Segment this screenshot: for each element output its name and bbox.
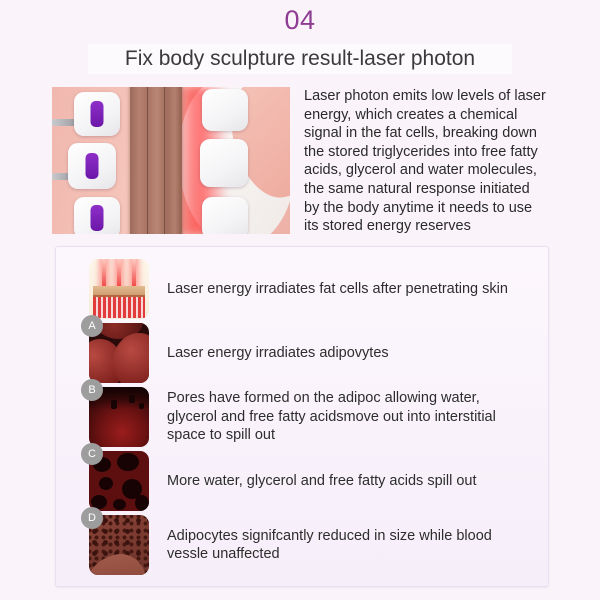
photo-pad-led	[91, 101, 104, 127]
fat-droplet	[99, 477, 113, 490]
fat-droplet	[113, 499, 126, 510]
page-title: Fix body sculpture result-laser photon	[0, 44, 600, 74]
step-item: C More water, glycerol and free fatty ac…	[89, 451, 529, 515]
step-label: Pores have formed on the adipoc allowing…	[167, 387, 527, 447]
photo-pad-led	[91, 205, 104, 231]
step-badge-a: A	[81, 315, 103, 337]
skin-surface	[93, 286, 145, 295]
step-badge-d: D	[81, 507, 103, 529]
photo-laser-pad	[202, 197, 248, 234]
photo-laser-pad	[68, 143, 116, 189]
step-item: D Adipocytes signifcantly reduced in siz…	[89, 515, 529, 579]
membrane-pore	[111, 400, 117, 409]
step-label: Adipocytes signifcantly reduced in size …	[167, 515, 527, 575]
photo-laser-pad	[74, 197, 120, 234]
step-item: B Pores have formed on the adipoc allowi…	[89, 387, 529, 451]
photo-strap	[130, 87, 182, 234]
page-number: 04	[0, 6, 600, 36]
fat-droplet	[117, 453, 139, 471]
membrane-pore	[139, 403, 144, 409]
membrane-pore	[129, 395, 135, 403]
step-item: Laser energy irradiates fat cells after …	[89, 259, 529, 323]
skin-layers-laser-beams-icon	[89, 259, 149, 319]
intro-paragraph: Laser photon emits low levels of laser e…	[304, 87, 548, 236]
adipocyte	[113, 333, 149, 383]
step-label: More water, glycerol and free fatty acid…	[167, 451, 527, 511]
intro-section: Laser photon emits low levels of laser e…	[52, 87, 548, 234]
treatment-photo	[52, 87, 290, 234]
step-label: Laser energy irradiates adipovytes	[167, 323, 527, 383]
step-badge-c: C	[81, 443, 103, 465]
photo-laser-pad	[200, 139, 248, 187]
step-item: A Laser energy irradiates adipovytes	[89, 323, 529, 387]
step-badge-b: B	[81, 379, 103, 401]
fat-droplet	[135, 495, 149, 511]
photo-laser-pad	[74, 92, 120, 136]
photo-pad-led	[86, 153, 99, 179]
steps-card: Laser energy irradiates fat cells after …	[55, 246, 549, 587]
fat-cell-layer	[93, 295, 145, 318]
photo-laser-pad	[202, 89, 248, 131]
step-label: Laser energy irradiates fat cells after …	[167, 259, 527, 319]
